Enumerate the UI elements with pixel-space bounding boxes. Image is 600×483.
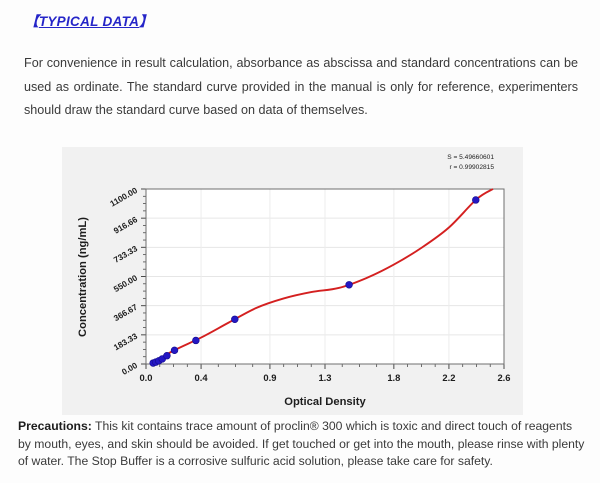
y-axis-title: Concentration (ng/mL): [77, 217, 89, 337]
data-point: [346, 281, 353, 288]
fit-correlation-label: r = 0.99902815: [449, 164, 494, 171]
x-tick-label: 0.0: [139, 372, 152, 383]
standard-curve-chart: 0.00183.33366.67550.00733.33916.661100.0…: [62, 147, 523, 415]
intro-paragraph: For convenience in result calculation, a…: [24, 52, 578, 123]
x-tick-label: 1.3: [318, 372, 331, 383]
precautions-block: Precautions: This kit contains trace amo…: [18, 418, 586, 471]
data-point: [472, 197, 479, 204]
x-axis-tick-labels: 0.00.40.91.31.82.22.6: [139, 372, 510, 383]
title-open-bracket: 【: [25, 14, 39, 29]
x-axis-title: Optical Density: [284, 396, 366, 408]
x-tick-label: 0.9: [263, 372, 276, 383]
x-tick-label: 1.8: [387, 372, 400, 383]
x-tick-label: 2.6: [497, 372, 510, 383]
data-point: [231, 316, 238, 323]
standard-curve-svg: 0.00183.33366.67550.00733.33916.661100.0…: [62, 147, 523, 415]
x-tick-label: 0.4: [195, 372, 209, 383]
title-text: TYPICAL DATA: [39, 14, 139, 29]
data-point: [171, 347, 178, 354]
title-close-bracket: 】: [139, 14, 153, 29]
data-point: [164, 352, 171, 359]
data-point: [192, 337, 199, 344]
fit-standard-error-label: S = 5.49660601: [447, 154, 494, 161]
page-title: 【TYPICAL DATA】: [25, 10, 153, 30]
precautions-label: Precautions:: [18, 419, 92, 433]
precautions-text: This kit contains trace amount of procli…: [18, 419, 584, 468]
typical-data-page: 【TYPICAL DATA】 For convenience in result…: [0, 0, 600, 483]
x-tick-label: 2.2: [442, 372, 455, 383]
